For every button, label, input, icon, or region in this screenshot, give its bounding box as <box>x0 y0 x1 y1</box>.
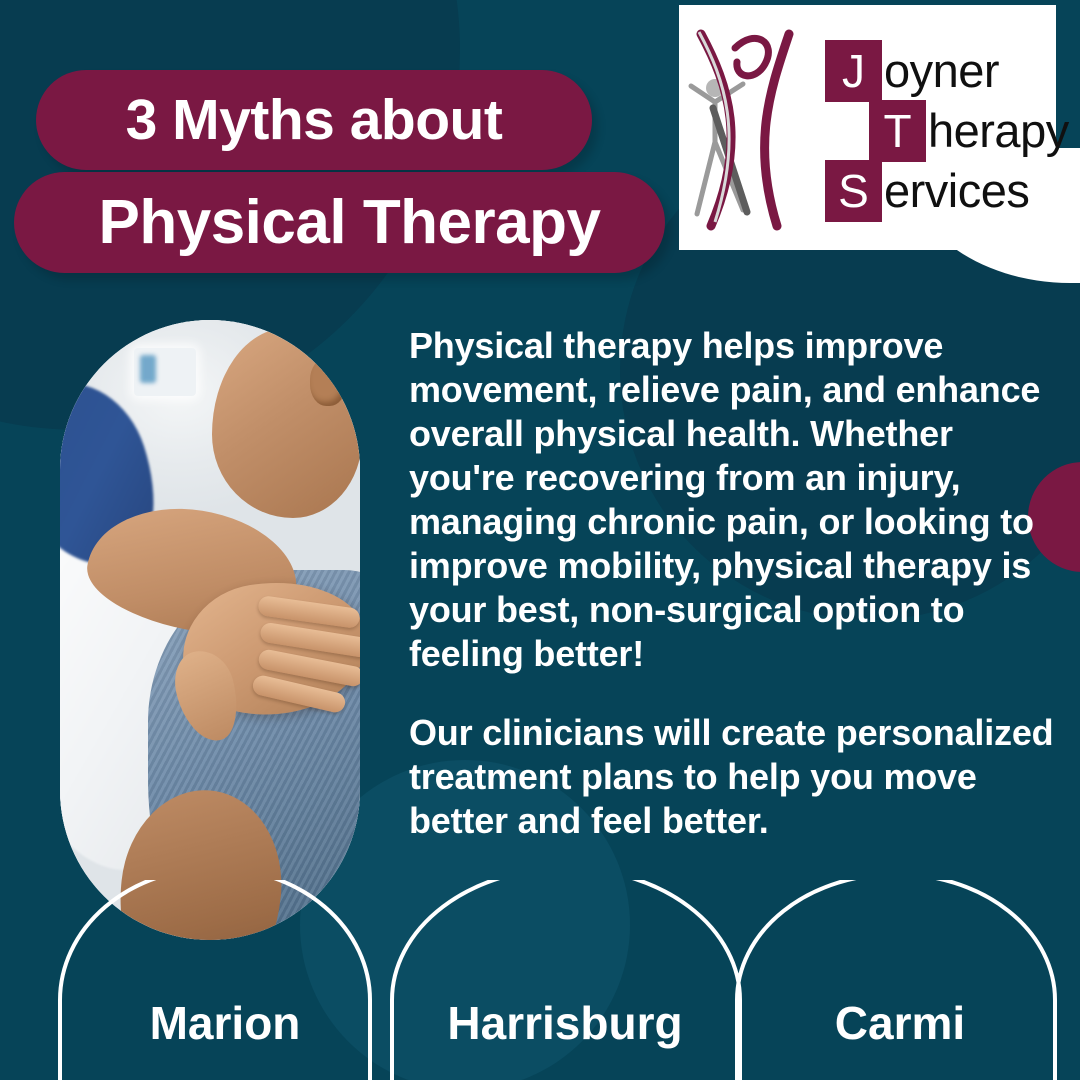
logo-rest-joyner: oyner <box>884 47 999 94</box>
body-paragraph-2: Our clinicians will create personalized … <box>409 711 1059 843</box>
arch-outline-carmi <box>737 880 1055 1080</box>
logo-rest-services: ervices <box>884 167 1029 214</box>
photo-patient-head <box>212 328 360 518</box>
photo-patient-ear <box>310 358 346 406</box>
photo-wall-chart <box>134 348 196 396</box>
logo-row-therapy: T herapy <box>869 100 1069 162</box>
poster-canvas: 3 Myths about Physical Therapy <box>0 0 1080 1080</box>
location-label-harrisburg: Harrisburg <box>395 996 735 1050</box>
arch-outline-marion <box>60 880 370 1080</box>
location-arches-group <box>0 880 1080 1080</box>
logo-box-s: S <box>825 160 882 222</box>
logo-rest-therapy: herapy <box>928 107 1069 154</box>
logo-row-joyner: J oyner <box>825 40 999 102</box>
logo-box-t: T <box>869 100 926 162</box>
logo-box-j: J <box>825 40 882 102</box>
body-paragraph-1: Physical therapy helps improve movement,… <box>409 324 1059 676</box>
logo-wordmark: J oyner T herapy S ervices <box>819 28 1048 228</box>
location-label-carmi: Carmi <box>745 996 1055 1050</box>
location-label-marion: Marion <box>65 996 385 1050</box>
headline-text-line-1: 3 Myths about <box>126 87 503 153</box>
headline-pill-line-2: Physical Therapy <box>14 172 665 273</box>
joyner-figure-mark-icon <box>685 22 817 234</box>
brand-logo-card: J oyner T herapy S ervices <box>679 5 1056 250</box>
shoulder-exam-photo <box>60 320 360 940</box>
headline-text-line-2: Physical Therapy <box>98 187 600 258</box>
headline-pill-line-1: 3 Myths about <box>36 70 592 170</box>
logo-row-services: S ervices <box>825 160 1029 222</box>
arch-outline-harrisburg <box>392 880 740 1080</box>
